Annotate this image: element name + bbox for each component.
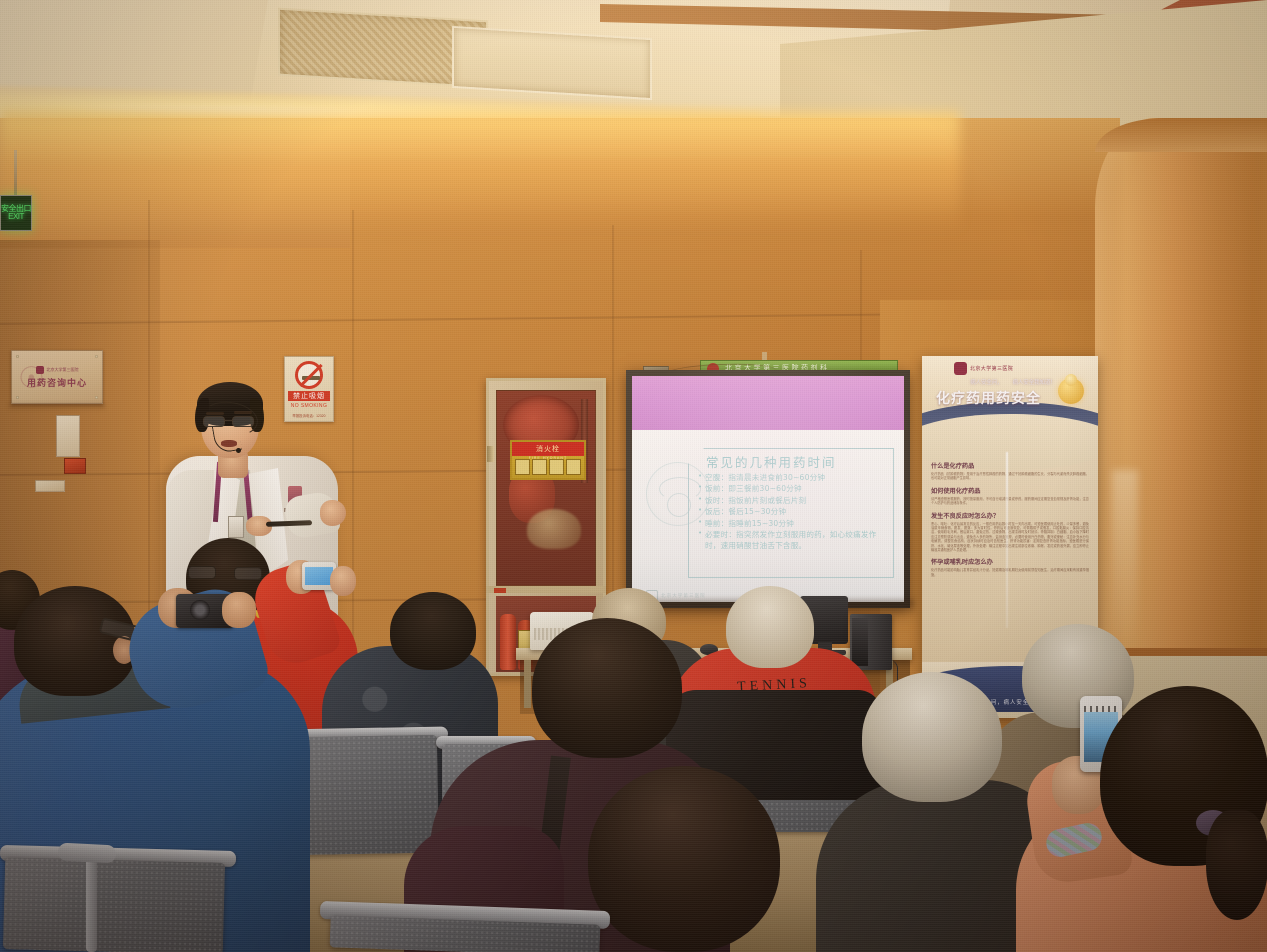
instruction-icon-4 bbox=[566, 459, 581, 475]
column-light-sheen bbox=[1112, 470, 1138, 650]
fire-hydrant-label-text: 消火栓 FIRE HYDRANT bbox=[512, 442, 584, 456]
screw-icon bbox=[16, 355, 19, 358]
chair-armrest bbox=[58, 842, 117, 863]
no-smoking-label-cn: 禁止吸烟 bbox=[288, 391, 330, 401]
eyeglasses-icon bbox=[188, 566, 264, 580]
exit-sign: 安全出口 EXIT bbox=[0, 195, 32, 231]
banner-hospital-logo: 北京大学第三医院 bbox=[954, 362, 1013, 375]
banner-section-body: 恶心、呕吐：化疗后最常见的反应，一般在用药后数小时至一天内出现，可遵医嘱使用止吐… bbox=[931, 522, 1089, 553]
chair-backrest bbox=[3, 857, 225, 952]
hydrant-nozzle bbox=[527, 509, 581, 549]
slide-bullet: 饭后：餐后15~30分钟 bbox=[698, 506, 890, 517]
blue-jacket-hand bbox=[222, 592, 256, 628]
banner-light-reflection bbox=[1006, 452, 1008, 628]
fire-hydrant-label: 消火栓 FIRE HYDRANT bbox=[510, 440, 586, 480]
audience-man-front-center-head bbox=[588, 766, 780, 952]
medication-consultation-center-plaque: ☉ 北京大学第三医院 用药咨询中心 bbox=[11, 350, 103, 404]
wall-switch-plate[interactable] bbox=[35, 480, 65, 492]
projection-screen: 常见的几种用药时间 空腹：指清晨未进食前30~60分钟 饭前：即三餐前30~60… bbox=[626, 370, 910, 608]
banner-section-body: 请严格遵照医嘱服药，按时按量服用，不可自行增减剂量或停药。服药期间应定期复查血常… bbox=[931, 497, 1089, 506]
banner-section-body: 化疗药品可能影响胎儿发育并经乳汁分泌，妊娠期及哺乳期妇女使用前须告知医生，治疗期… bbox=[931, 568, 1089, 577]
ceiling-access-panel bbox=[452, 26, 652, 100]
slide-header-band bbox=[632, 376, 904, 430]
screw-icon bbox=[16, 396, 19, 399]
banner-header: 北京大学第三医院 病人安全问， 病人安全我知道！ 化疗药用药安全 bbox=[922, 356, 1098, 410]
cigarette-icon bbox=[302, 376, 320, 380]
table-leg bbox=[524, 660, 531, 708]
photograph-scene: 安全出口 EXIT ☉ 北京大学第三医院 用药咨询中心 禁止吸烟 NO SMOK… bbox=[0, 0, 1267, 952]
wall-light-glow bbox=[0, 112, 960, 232]
instruction-icon-2 bbox=[532, 459, 547, 475]
banner-hospital-name: 北京大学第三医院 bbox=[970, 365, 1013, 372]
slide-bullet: 饭前：即三餐前30~60分钟 bbox=[698, 483, 890, 494]
plaque-shadow bbox=[9, 404, 105, 410]
screw-icon bbox=[95, 355, 98, 358]
banner-slogan-right: 病人安全我知道！ bbox=[1013, 378, 1056, 386]
fire-extinguisher-icon bbox=[500, 614, 516, 670]
hospital-seal-icon bbox=[954, 362, 967, 375]
banner-section-heading: 怀孕或哺乳时应怎么办 bbox=[931, 557, 1089, 566]
screw-icon bbox=[95, 396, 98, 399]
banner-slogan-left: 病人安全问， bbox=[970, 378, 1002, 386]
audience-woman-dark-coat-head bbox=[532, 618, 682, 758]
ponytail bbox=[1206, 810, 1267, 920]
fire-hydrant-title-cn: 消火栓 bbox=[536, 445, 560, 453]
slide-canvas: 常见的几种用药时间 空腹：指清晨未进食前30~60分钟 饭前：即三餐前30~60… bbox=[632, 376, 904, 602]
slide-bullet: 睡前：指睡前15~30分钟 bbox=[698, 518, 890, 529]
cabinet-red-tag bbox=[494, 588, 506, 593]
pill-capsule-icon bbox=[1058, 378, 1084, 404]
slide-bullet: 饭时：指饭前片刻或餐后片刻 bbox=[698, 495, 890, 506]
presenter-right-hand bbox=[320, 500, 346, 526]
red-jacket-hand bbox=[330, 566, 356, 596]
wall-utility-box bbox=[56, 415, 80, 457]
glasses-lens bbox=[188, 566, 216, 579]
microphone-tip-icon bbox=[236, 448, 241, 453]
no-smoking-sign: 禁止吸烟 NO SMOKING 举报投诉电话：12320 bbox=[284, 356, 334, 422]
no-smoking-label-en: NO SMOKING bbox=[291, 403, 328, 409]
glasses-lens bbox=[234, 567, 262, 580]
audience-woman-grey-hair-head bbox=[862, 672, 1002, 802]
instruction-icon-3 bbox=[549, 459, 564, 475]
audience-tennis-jacket-head bbox=[726, 586, 814, 668]
exit-sign-mounting-rod bbox=[14, 150, 17, 198]
fire-alarm-call-point bbox=[64, 458, 86, 474]
camera-lens-icon bbox=[190, 600, 210, 620]
slide-bullet: 空腹：指清晨未进食前30~60分钟 bbox=[698, 472, 890, 483]
presenter-id-badge bbox=[228, 516, 244, 538]
banner-section-heading: 如何使用化疗药品 bbox=[931, 486, 1089, 495]
no-smoking-footnote: 举报投诉电话：12320 bbox=[292, 413, 325, 418]
wall-panel-seam bbox=[612, 225, 614, 625]
no-smoking-icon bbox=[295, 361, 323, 389]
banner-section-body: 化疗药品（抗肿瘤药物）是用于治疗恶性肿瘤的药物，通过干扰肿瘤细胞的生长、分裂与代… bbox=[931, 472, 1089, 481]
instruction-icon-1 bbox=[515, 459, 530, 475]
slide-bullet-list: 空腹：指清晨未进食前30~60分钟 饭前：即三餐前30~60分钟 饭时：指饭前片… bbox=[698, 472, 890, 552]
banner-section-heading: 发生不良反应时怎么办？ bbox=[931, 511, 1089, 520]
banner-section-heading: 什么是化疗药品 bbox=[931, 461, 1089, 470]
fire-hydrant-glass-upper bbox=[496, 390, 596, 586]
plaque-hospital-name: 北京大学第三医院 bbox=[47, 367, 79, 373]
slide-bullet: 必要时：指突然发作立刻服用的药，如心绞痛发作时，速用硝酸甘油舌下含服。 bbox=[698, 529, 890, 552]
cabinet-latch[interactable] bbox=[487, 446, 494, 462]
plaque-watermark-icon: ☉ bbox=[18, 361, 45, 396]
chair-leg bbox=[86, 856, 97, 952]
exit-sign-label-en: EXIT bbox=[1, 213, 31, 221]
slide-footer-logo-text: 北京大学第三医院 bbox=[661, 593, 706, 599]
slide-title: 常见的几种用药时间 bbox=[706, 452, 837, 471]
slide-body: 常见的几种用药时间 空腹：指清晨未进食前30~60分钟 饭前：即三餐前30~60… bbox=[632, 430, 904, 602]
banner-title: 化疗药用药安全 bbox=[936, 388, 1066, 408]
smartphone-screen[interactable] bbox=[305, 567, 333, 585]
audience-man-navy-sweater-head bbox=[390, 592, 476, 670]
